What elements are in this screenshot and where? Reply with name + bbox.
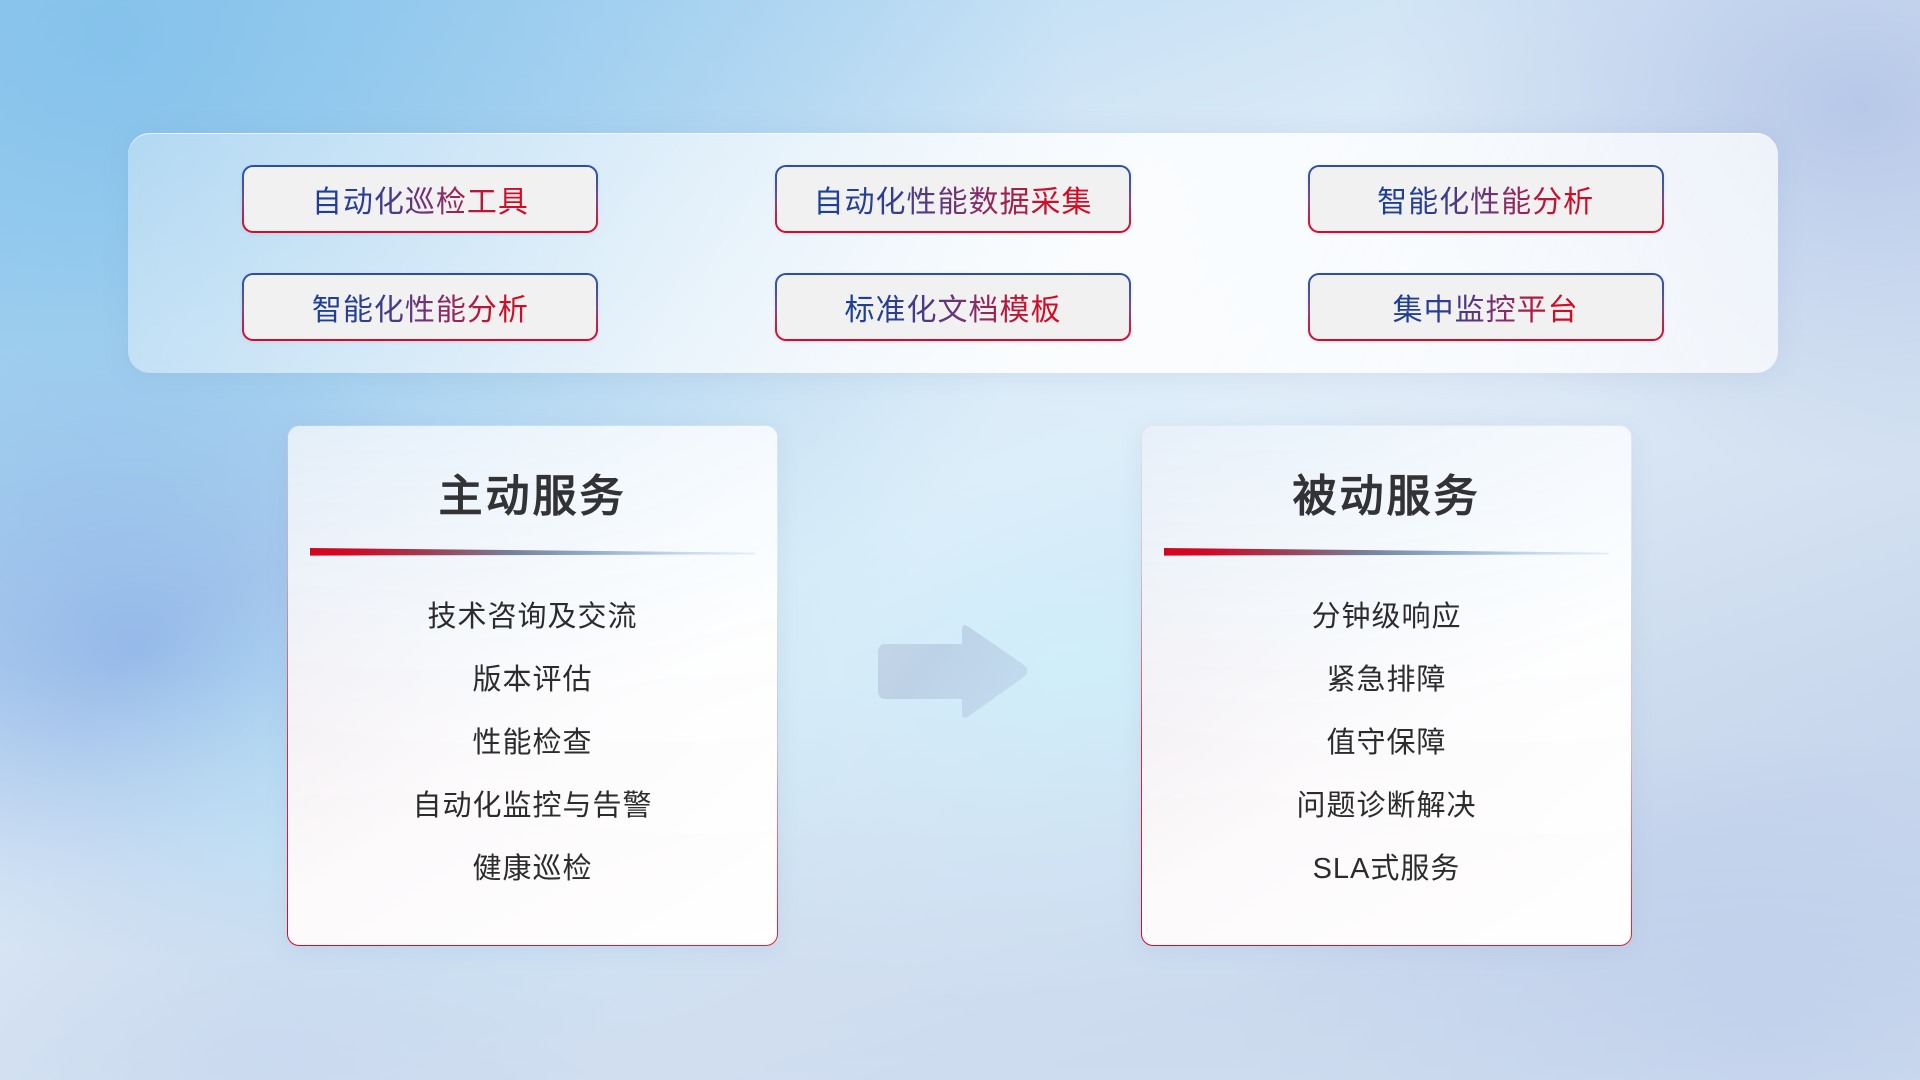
capability-pill-label: 自动化巡检工具	[312, 177, 529, 221]
service-item: SLA式服务	[1142, 838, 1631, 901]
capability-pill-standardized-document-template[interactable]: 标准化文档模板	[775, 273, 1131, 341]
service-item: 技术咨询及交流	[288, 586, 777, 649]
service-item: 值守保障	[1142, 712, 1631, 775]
gradient-divider-icon	[310, 544, 755, 560]
capability-pill-label: 智能化性能分析	[312, 285, 529, 329]
capability-pill-label: 集中监控平台	[1393, 285, 1579, 329]
service-item: 自动化监控与告警	[288, 775, 777, 838]
service-item-list: 分钟级响应 紧急排障 值守保障 问题诊断解决 SLA式服务	[1142, 586, 1631, 901]
gradient-divider	[1164, 544, 1609, 560]
capability-pill-grid: 自动化巡检工具 自动化性能数据采集 智能化性能分析 智能化性能分析 标准化文档模…	[128, 133, 1778, 373]
gradient-divider	[310, 544, 755, 560]
capability-pill-intelligent-performance-analysis-bottom[interactable]: 智能化性能分析	[242, 273, 598, 341]
gradient-divider-icon	[1164, 544, 1609, 560]
service-item: 健康巡检	[288, 838, 777, 901]
service-card-title: 被动服务	[1142, 460, 1631, 524]
service-item: 性能检查	[288, 712, 777, 775]
service-card-reactive: 被动服务 分钟级响应 紧急排障 值守保障 问题诊断解决 SLA式服务	[1141, 425, 1632, 946]
arrow-right-glyph	[872, 620, 1032, 724]
service-item: 问题诊断解决	[1142, 775, 1631, 838]
service-item: 紧急排障	[1142, 649, 1631, 712]
capability-pill-centralized-monitoring-platform[interactable]: 集中监控平台	[1308, 273, 1664, 341]
capability-pill-label: 智能化性能分析	[1377, 177, 1594, 221]
capability-pill-label: 标准化文档模板	[844, 285, 1061, 329]
capability-pill-label: 自动化性能数据采集	[813, 177, 1092, 221]
arrow-right-icon	[872, 620, 1032, 724]
capability-panel: 自动化巡检工具 自动化性能数据采集 智能化性能分析 智能化性能分析 标准化文档模…	[128, 133, 1778, 373]
capability-pill-intelligent-performance-analysis-top[interactable]: 智能化性能分析	[1308, 165, 1664, 233]
capability-pill-automated-performance-data-collection[interactable]: 自动化性能数据采集	[775, 165, 1131, 233]
service-card-title: 主动服务	[288, 460, 777, 524]
service-item: 版本评估	[288, 649, 777, 712]
service-card-proactive: 主动服务 技术咨询及交流 版本评估 性能检查 自动化监控与告警 健康巡检	[287, 425, 778, 946]
service-item-list: 技术咨询及交流 版本评估 性能检查 自动化监控与告警 健康巡检	[288, 586, 777, 901]
capability-pill-automated-inspection-tool[interactable]: 自动化巡检工具	[242, 165, 598, 233]
service-item: 分钟级响应	[1142, 586, 1631, 649]
